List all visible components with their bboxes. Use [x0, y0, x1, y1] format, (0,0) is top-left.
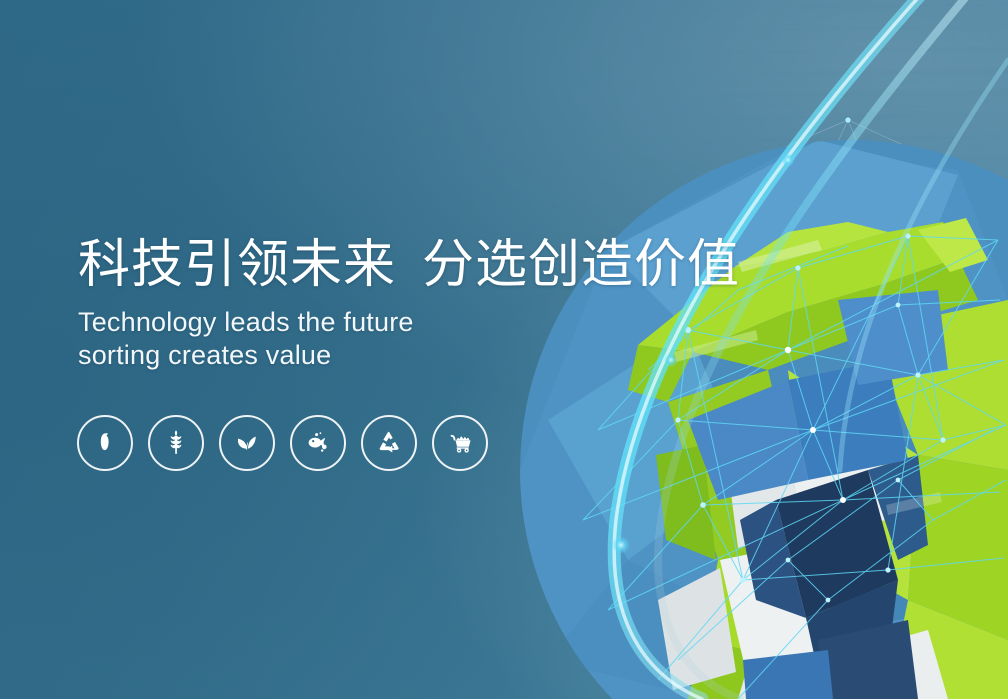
headline-part-2: 分选创造价值 [422, 236, 740, 294]
grain-kernel-icon [90, 428, 120, 458]
mining-cart-icon-badge[interactable] [432, 415, 488, 471]
leaves-icon [231, 427, 263, 459]
industry-icon-row [77, 415, 488, 471]
headline: 科技引领未来分选创造价值 [78, 236, 778, 294]
recycle-icon-badge[interactable] [361, 415, 417, 471]
wheat-ear-icon-badge[interactable] [148, 415, 204, 471]
wheat-ear-icon [160, 427, 192, 459]
subheadline: Technology leads the future sorting crea… [78, 306, 778, 371]
copy-block: 科技引领未来分选创造价值 Technology leads the future… [78, 236, 778, 371]
subheadline-line-1: Technology leads the future [78, 306, 778, 338]
recycle-icon [373, 427, 405, 459]
fish-icon-badge[interactable] [290, 415, 346, 471]
grain-kernel-icon-badge[interactable] [77, 415, 133, 471]
mining-cart-icon [444, 427, 476, 459]
subheadline-line-2: sorting creates value [78, 339, 778, 371]
leaves-icon-badge[interactable] [219, 415, 275, 471]
fish-icon [302, 427, 334, 459]
promo-banner: 科技引领未来分选创造价值 Technology leads the future… [0, 0, 1008, 699]
headline-part-1: 科技引领未来 [78, 236, 396, 294]
